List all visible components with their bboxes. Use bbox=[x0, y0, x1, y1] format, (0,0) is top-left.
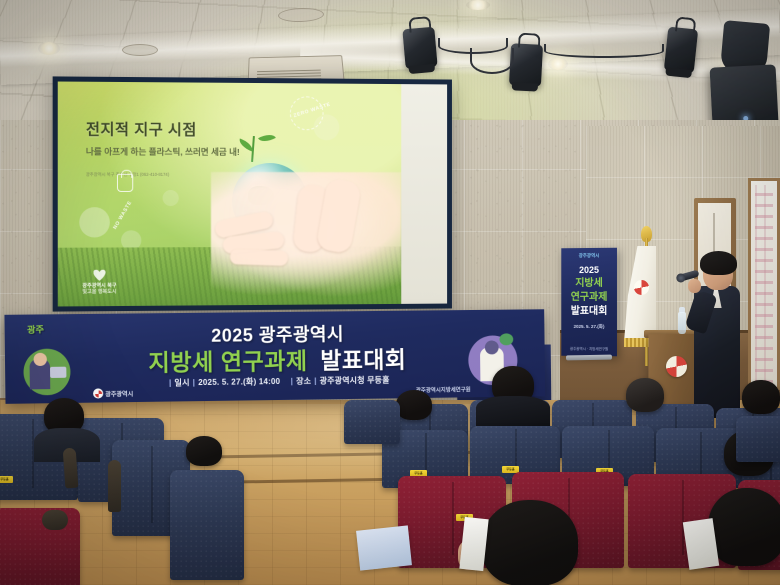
leaf-icon bbox=[258, 131, 276, 146]
auditorium-photo: 전지적 지구 시점 나를 아프게 하는 플라스틱, 쓰러면 세금 내! 광주광역… bbox=[0, 0, 780, 585]
handout-paper bbox=[683, 518, 719, 570]
handout-booklet bbox=[356, 525, 412, 570]
banner-date-value: 2025. 5. 27.(화) 14:00 bbox=[198, 377, 280, 387]
presenter-hand bbox=[688, 279, 701, 293]
podium-emblem-icon bbox=[666, 356, 687, 377]
air-diffuser-icon bbox=[122, 44, 158, 56]
audience-shoulders bbox=[476, 396, 550, 426]
audience-head bbox=[482, 500, 578, 585]
heart-icon bbox=[93, 270, 105, 281]
banner-line2-green: 지방세 연구과제 bbox=[148, 348, 307, 376]
banner-place-label: 장소 bbox=[296, 377, 311, 386]
standing-banner-base bbox=[566, 355, 612, 361]
standing-banner-line3: 발표대회 bbox=[561, 307, 617, 317]
seat-tag: 무등홀 bbox=[0, 476, 13, 483]
standing-banner-logo: 광주광역시 bbox=[561, 253, 617, 259]
seat[interactable] bbox=[344, 400, 400, 444]
standing-banner-line1: 지방세 bbox=[561, 279, 617, 289]
standing-banner: 광주광역시 2025 지방세 연구과제 발표대회 2025. 5. 27.(화)… bbox=[561, 248, 617, 357]
slide-title: 전지적 지구 시점 bbox=[86, 118, 197, 140]
seat-armrest bbox=[63, 448, 79, 489]
no-waste-label: NO WASTE bbox=[112, 200, 133, 231]
banner-line2-white: 발표대회 bbox=[320, 346, 406, 373]
slide-logo-sub: 빛고을 행복도시 bbox=[82, 289, 116, 295]
screen-surface: 전지적 지구 시점 나를 아프게 하는 플라스틱, 쓰러면 세금 내! 광주광역… bbox=[58, 82, 447, 307]
banner-org-label: 광주광역시 bbox=[105, 388, 133, 397]
standing-banner-footer: 광주광역시 · 지방세연구원 bbox=[561, 347, 617, 352]
audience-head bbox=[742, 380, 780, 414]
pinwheel-icon bbox=[93, 388, 103, 398]
downlight-icon bbox=[548, 58, 568, 70]
standing-banner-date: 2025. 5. 27.(화) bbox=[561, 324, 617, 330]
hands-holding-globe bbox=[211, 172, 401, 301]
presentation-slide: 전지적 지구 시점 나를 아프게 하는 플라스틱, 쓰러면 세금 내! 광주광역… bbox=[58, 82, 402, 307]
notice-board bbox=[748, 178, 780, 390]
main-event-banner: 광주 2025 광주광역시 지방세 연구과제 발표대회 |일시|2025. 5.… bbox=[4, 309, 545, 404]
banner-org-logo: 광주광역시 bbox=[93, 388, 133, 399]
banner-place-value: 광주광역시청 무등홀 bbox=[320, 376, 390, 386]
audience-head bbox=[396, 390, 432, 420]
seat[interactable] bbox=[170, 470, 244, 580]
power-cable bbox=[470, 48, 514, 74]
plastic-bag-icon bbox=[117, 174, 133, 192]
downlight-icon bbox=[38, 42, 60, 55]
seat-armrest bbox=[42, 510, 68, 530]
slide-subtitle: 나를 아프게 하는 플라스틱, 쓰러면 세금 내! bbox=[86, 146, 240, 159]
stage-light-icon bbox=[664, 27, 698, 74]
seat[interactable] bbox=[736, 416, 780, 462]
banner-date-label: 일시 bbox=[174, 378, 189, 387]
stage-light-icon bbox=[402, 27, 437, 70]
seat[interactable] bbox=[0, 508, 80, 585]
screen-blank-margin bbox=[401, 84, 447, 304]
downlight-icon bbox=[466, 0, 490, 10]
power-cable bbox=[544, 44, 664, 58]
seat-armrest bbox=[108, 460, 121, 512]
audience-head bbox=[186, 436, 222, 466]
standing-banner-year: 2025 bbox=[561, 265, 617, 275]
city-emblem-icon bbox=[634, 280, 649, 295]
standing-banner-line2: 연구과제 bbox=[561, 293, 617, 303]
audience-head bbox=[708, 488, 780, 566]
stage-light-icon bbox=[509, 43, 543, 87]
audience-head bbox=[626, 378, 664, 412]
projection-screen: 전지적 지구 시점 나를 아프게 하는 플라스틱, 쓰러면 세금 내! 광주광역… bbox=[53, 76, 452, 311]
slide-logo: 광주광역시 북구 빛고을 행복도시 bbox=[82, 270, 116, 295]
presenter-hair bbox=[700, 251, 737, 275]
water-bottle bbox=[678, 312, 686, 334]
